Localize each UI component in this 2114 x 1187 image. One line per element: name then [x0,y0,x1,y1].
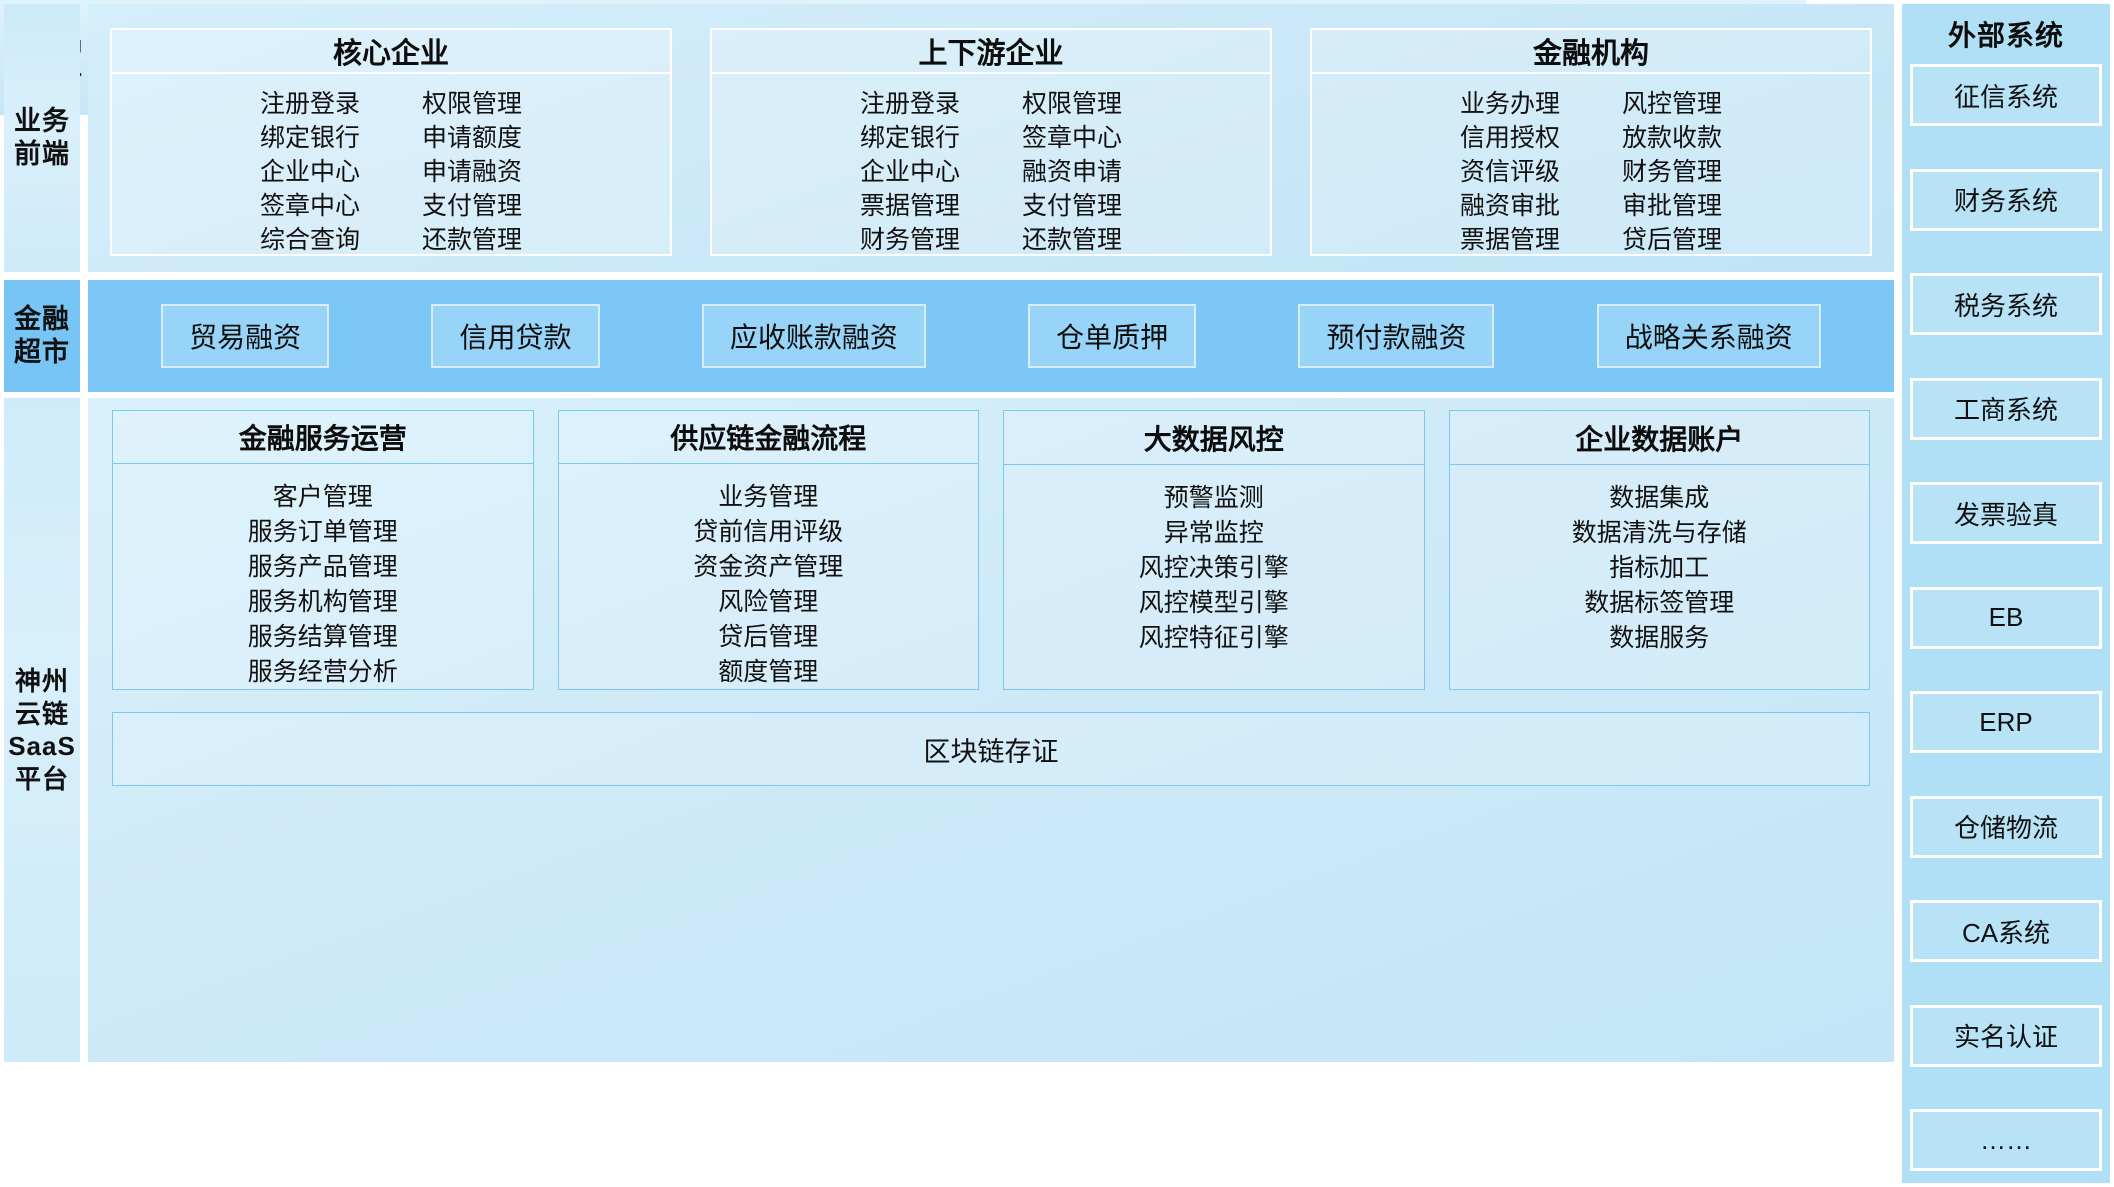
external-item-more[interactable]: …… [1910,1109,2102,1171]
list-item: 综合查询 [260,224,360,257]
external-item-warehouse-logistics[interactable]: 仓储物流 [1910,796,2102,858]
list-item: 申请额度 [422,122,522,155]
list-item: 还款管理 [1022,224,1122,257]
list-item: 数据集成 [1609,481,1709,515]
list-item: 融资申请 [1022,156,1122,189]
market-item-trade-finance[interactable]: 贸易融资 [161,304,329,368]
list-item: 资金资产管理 [693,550,843,584]
list-item: 绑定银行 [260,122,360,155]
list-item: 服务经营分析 [248,655,398,689]
list-item: 企业中心 [260,156,360,189]
card-enterprise-data-account-title: 企业数据账户 [1450,411,1870,465]
saas-card-row: 金融服务运营 客户管理 服务订单管理 服务产品管理 服务机构管理 服务结算管理 … [102,410,1880,690]
market-item-strategic-relationship-finance[interactable]: 战略关系融资 [1597,304,1821,368]
card-upstream-downstream-col-right: 权限管理 签章中心 融资申请 支付管理 还款管理 [1022,88,1122,257]
list-item: 签章中心 [260,190,360,223]
card-upstream-downstream-enterprise[interactable]: 上下游企业 注册登录 绑定银行 企业中心 票据管理 财务管理 权限管理 签章中心… [710,28,1272,256]
external-item-invoice-verification[interactable]: 发票验真 [1910,482,2102,544]
list-item: 服务订单管理 [248,515,398,549]
list-item: 异常监控 [1164,516,1264,550]
card-enterprise-data-account[interactable]: 企业数据账户 数据集成 数据清洗与存储 指标加工 数据标签管理 数据服务 [1449,410,1871,690]
list-item: 贷前信用评级 [693,515,843,549]
external-item-ca-system[interactable]: CA系统 [1910,900,2102,962]
market-item-credit-loan[interactable]: 信用贷款 [431,304,599,368]
list-item: 指标加工 [1609,551,1709,585]
card-supply-chain-finance-process[interactable]: 供应链金融流程 业务管理 贷前信用评级 资金资产管理 风险管理 贷后管理 额度管… [558,410,980,690]
list-item: 支付管理 [1022,190,1122,223]
list-item: 财务管理 [860,224,960,257]
section-external-systems: 外部系统 征信系统 财务系统 税务系统 工商系统 发票验真 EB ERP 仓储物… [1902,4,2110,1183]
card-upstream-downstream-col-left: 注册登录 绑定银行 企业中心 票据管理 财务管理 [860,88,960,257]
business-frontend-card-row: 核心企业 注册登录 绑定银行 企业中心 签章中心 综合查询 权限管理 申请额度 … [88,4,1894,272]
list-item: 风险管理 [718,585,818,619]
section-label-financial-supermarket-text: 金融 超市 [14,303,70,369]
list-item: 额度管理 [718,655,818,689]
card-core-enterprise-body: 注册登录 绑定银行 企业中心 签章中心 综合查询 权限管理 申请额度 申请融资 … [112,74,670,257]
external-item-real-name-authentication[interactable]: 实名认证 [1910,1005,2102,1067]
card-big-data-risk-control-body: 预警监测 异常监控 风控决策引擎 风控模型引擎 风控特征引擎 [1004,465,1424,689]
list-item: 贷后管理 [718,620,818,654]
list-item: 业务管理 [718,480,818,514]
list-item: 企业中心 [860,156,960,189]
section-label-business-frontend: 业务 前端 [4,4,80,272]
section-label-saas-platform: 神州 云链 SaaS 平台 [4,398,80,1062]
card-core-enterprise-col-left: 注册登录 绑定银行 企业中心 签章中心 综合查询 [260,88,360,257]
list-item: 风控模型引擎 [1139,586,1289,620]
card-upstream-downstream-enterprise-body: 注册登录 绑定银行 企业中心 票据管理 财务管理 权限管理 签章中心 融资申请 … [712,74,1270,257]
list-item: 权限管理 [1022,88,1122,121]
card-financial-institution-col-left: 业务办理 信用授权 资信评级 融资审批 票据管理 [1460,88,1560,257]
card-financial-service-operation-body: 客户管理 服务订单管理 服务产品管理 服务机构管理 服务结算管理 服务经营分析 [113,464,533,689]
card-core-enterprise-col-right: 权限管理 申请额度 申请融资 支付管理 还款管理 [422,88,522,257]
list-item: 服务结算管理 [248,620,398,654]
list-item: 业务办理 [1460,88,1560,121]
external-item-tax-system[interactable]: 税务系统 [1910,273,2102,335]
market-item-receivables-finance[interactable]: 应收账款融资 [702,304,926,368]
section-saas-platform: 金融服务运营 客户管理 服务订单管理 服务产品管理 服务机构管理 服务结算管理 … [88,398,1894,1062]
card-financial-institution-title: 金融机构 [1312,30,1870,74]
card-financial-institution-col-right: 风控管理 放款收款 财务管理 审批管理 贷后管理 [1622,88,1722,257]
architecture-diagram: 业务 前端 核心企业 注册登录 绑定银行 企业中心 签章中心 综合查询 权限管理 [0,0,2114,1187]
card-financial-service-operation[interactable]: 金融服务运营 客户管理 服务订单管理 服务产品管理 服务机构管理 服务结算管理 … [112,410,534,690]
card-financial-service-operation-title: 金融服务运营 [113,411,533,464]
card-enterprise-data-account-body: 数据集成 数据清洗与存储 指标加工 数据标签管理 数据服务 [1450,465,1870,689]
market-item-prepayment-finance[interactable]: 预付款融资 [1298,304,1494,368]
card-financial-institution[interactable]: 金融机构 业务办理 信用授权 资信评级 融资审批 票据管理 风控管理 放款收款 … [1310,28,1872,256]
list-item: 支付管理 [422,190,522,223]
card-supply-chain-finance-process-title: 供应链金融流程 [559,411,979,464]
list-item: 融资审批 [1460,190,1560,223]
external-systems-list: 征信系统 财务系统 税务系统 工商系统 发票验真 EB ERP 仓储物流 CA系… [1910,64,2102,1171]
list-item: 还款管理 [422,224,522,257]
list-item: 客户管理 [273,480,373,514]
list-item: 贷后管理 [1622,224,1722,257]
card-core-enterprise-title: 核心企业 [112,30,670,74]
list-item: 申请融资 [422,156,522,189]
external-item-business-registration-system[interactable]: 工商系统 [1910,378,2102,440]
card-financial-institution-body: 业务办理 信用授权 资信评级 融资审批 票据管理 风控管理 放款收款 财务管理 … [1312,74,1870,257]
list-item: 风控特征引擎 [1139,621,1289,655]
section-label-financial-supermarket: 金融 超市 [4,280,80,392]
list-item: 票据管理 [860,190,960,223]
list-item: 票据管理 [1460,224,1560,257]
card-upstream-downstream-enterprise-title: 上下游企业 [712,30,1270,74]
section-financial-supermarket: 贸易融资 信用贷款 应收账款融资 仓单质押 预付款融资 战略关系融资 [88,280,1894,392]
section-business-frontend: 核心企业 注册登录 绑定银行 企业中心 签章中心 综合查询 权限管理 申请额度 … [88,4,1894,272]
list-item: 风控决策引擎 [1139,551,1289,585]
card-supply-chain-finance-process-body: 业务管理 贷前信用评级 资金资产管理 风险管理 贷后管理 额度管理 [559,464,979,689]
list-item: 预警监测 [1164,481,1264,515]
list-item: 审批管理 [1622,190,1722,223]
card-big-data-risk-control[interactable]: 大数据风控 预警监测 异常监控 风控决策引擎 风控模型引擎 风控特征引擎 [1003,410,1425,690]
list-item: 注册登录 [860,88,960,121]
list-item: 数据标签管理 [1584,586,1734,620]
list-item: 权限管理 [422,88,522,121]
market-item-warehouse-receipt-pledge[interactable]: 仓单质押 [1028,304,1196,368]
list-item: 绑定银行 [860,122,960,155]
list-item: 放款收款 [1622,122,1722,155]
list-item: 注册登录 [260,88,360,121]
list-item: 资信评级 [1460,156,1560,189]
external-item-credit-reference-system[interactable]: 征信系统 [1910,64,2102,126]
list-item: 信用授权 [1460,122,1560,155]
list-item: 风控管理 [1622,88,1722,121]
card-big-data-risk-control-title: 大数据风控 [1004,411,1424,465]
section-label-business-frontend-text: 业务 前端 [14,105,70,171]
card-core-enterprise[interactable]: 核心企业 注册登录 绑定银行 企业中心 签章中心 综合查询 权限管理 申请额度 … [110,28,672,256]
list-item: 服务产品管理 [248,550,398,584]
list-item: 数据清洗与存储 [1572,516,1747,550]
external-item-eb[interactable]: EB [1910,587,2102,649]
list-item: 数据服务 [1609,621,1709,655]
list-item: 服务机构管理 [248,585,398,619]
section-label-saas-platform-text: 神州 云链 SaaS 平台 [8,665,76,795]
external-item-finance-system[interactable]: 财务系统 [1910,169,2102,231]
list-item: 签章中心 [1022,122,1122,155]
external-item-erp[interactable]: ERP [1910,691,2102,753]
external-systems-title: 外部系统 [1948,14,2064,54]
list-item: 财务管理 [1622,156,1722,189]
blockchain-evidence-bar[interactable]: 区块链存证 [112,712,1870,786]
